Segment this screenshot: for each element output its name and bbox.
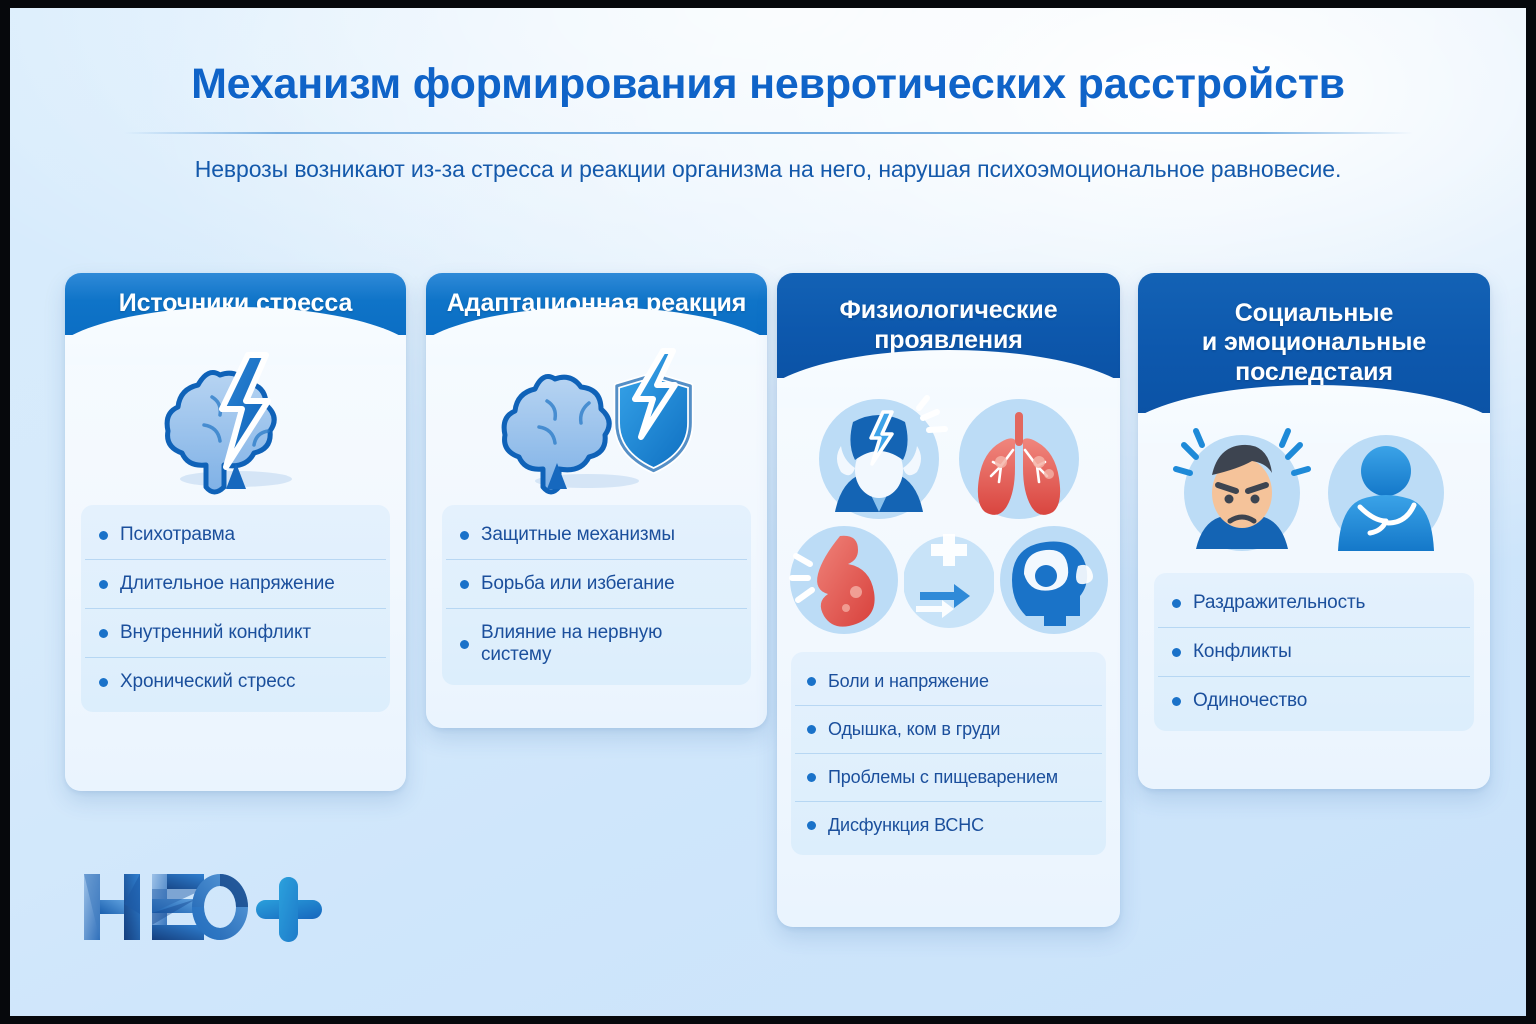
card-list: Психотравма Длительное напряжение Внутре… xyxy=(81,505,390,712)
bullet-icon xyxy=(99,678,108,687)
card-header: Социальные и эмоциональные последстаия xyxy=(1138,273,1490,413)
card-adaptive-reaction[interactable]: Адаптационная реакция xyxy=(426,273,767,728)
bullet-icon xyxy=(460,580,469,589)
neo-plus-logo-mark xyxy=(80,868,330,946)
card-illustration xyxy=(777,378,1120,652)
list-item[interactable]: Влияние на нервную систему xyxy=(446,609,747,679)
list-item-label: Внутренний конфликт xyxy=(120,622,311,644)
list-item[interactable]: Конфликты xyxy=(1158,628,1470,677)
page-title: Механизм формирования невротических расс… xyxy=(10,60,1526,108)
list-item[interactable]: Длительное напряжение xyxy=(85,560,386,609)
brain-lightning-illustration xyxy=(136,345,336,495)
brain-shield-illustration xyxy=(477,345,717,495)
card-title-line1: Физиологические xyxy=(839,296,1057,324)
bullet-icon xyxy=(460,640,469,649)
bullet-icon xyxy=(99,531,108,540)
list-item[interactable]: Дисфункция ВСНС xyxy=(795,802,1102,849)
list-item-label: Боли и напряжение xyxy=(828,671,989,692)
logo-plus-icon xyxy=(256,877,322,942)
bullet-icon xyxy=(1172,648,1181,657)
list-item[interactable]: Проблемы с пищеварением xyxy=(795,754,1102,802)
list-item-label: Конфликты xyxy=(1193,641,1292,663)
card-social-emotional-consequences[interactable]: Социальные и эмоциональные последстаия xyxy=(1138,273,1490,789)
list-item-label: Раздражительность xyxy=(1193,592,1365,614)
list-item-label: Хронический стресс xyxy=(120,671,295,693)
card-header: Источники стресса xyxy=(65,273,406,335)
list-item-label: Влияние на нервную систему xyxy=(481,622,731,666)
bullet-icon xyxy=(1172,697,1181,706)
card-list: Раздражительность Конфликты Одиночество xyxy=(1154,573,1474,731)
card-illustration xyxy=(65,335,406,505)
list-item[interactable]: Раздражительность xyxy=(1158,579,1470,628)
icon-row-bottom xyxy=(784,520,1114,640)
card-list: Защитные механизмы Борьба или избегание … xyxy=(442,505,751,685)
card-header: Физиологические проявления xyxy=(777,273,1120,378)
bullet-icon xyxy=(807,725,816,734)
list-item-label: Психотравма xyxy=(120,524,235,546)
headache-person-icon xyxy=(809,394,949,524)
card-header: Адаптационная реакция xyxy=(426,273,767,335)
list-item[interactable]: Борьба или избегание xyxy=(446,560,747,609)
card-sources-of-stress[interactable]: Источники стресса xyxy=(65,273,406,791)
head-brain-icon xyxy=(994,520,1114,640)
infographic-canvas: Механизм формирования невротических расс… xyxy=(10,8,1526,1016)
logo-letter-n xyxy=(84,874,140,940)
list-item[interactable]: Внутренний конфликт xyxy=(85,609,386,658)
bullet-icon xyxy=(807,677,816,686)
icon-row-top xyxy=(809,394,1089,524)
bullet-icon xyxy=(460,531,469,540)
bullet-icon xyxy=(99,580,108,589)
bullet-icon xyxy=(99,629,108,638)
list-item-label: Одиночество xyxy=(1193,690,1307,712)
list-item-label: Борьба или избегание xyxy=(481,573,675,595)
angry-face-icon xyxy=(1172,423,1312,563)
list-item[interactable]: Хронический стресс xyxy=(85,658,386,706)
bullet-icon xyxy=(1172,599,1181,608)
header: Механизм формирования невротических расс… xyxy=(10,60,1526,183)
arrow-right-icon xyxy=(904,520,994,640)
list-item-label: Дисфункция ВСНС xyxy=(828,815,984,836)
card-illustration xyxy=(426,335,767,505)
logo-letter-o xyxy=(192,874,248,940)
list-item[interactable]: Психотравма xyxy=(85,511,386,560)
list-item[interactable]: Одышка, ком в груди xyxy=(795,706,1102,754)
list-item[interactable]: Боли и напряжение xyxy=(795,658,1102,706)
card-physiological-manifestations[interactable]: Физиологические проявления xyxy=(777,273,1120,927)
lungs-icon xyxy=(949,394,1089,524)
bullet-icon xyxy=(807,773,816,782)
list-item-label: Одышка, ком в груди xyxy=(828,719,1000,740)
list-item[interactable]: Одиночество xyxy=(1158,677,1470,725)
stomach-icon xyxy=(784,520,904,640)
lonely-person-icon xyxy=(1316,423,1456,563)
page-subtitle: Неврозы возникают из-за стресса и реакци… xyxy=(10,156,1526,183)
poster-root: Механизм формирования невротических расс… xyxy=(0,0,1536,1024)
card-title-line1: Социальные xyxy=(1235,299,1394,327)
card-title-line3: последстаия xyxy=(1235,358,1393,386)
bullet-icon xyxy=(807,821,816,830)
title-divider xyxy=(123,132,1413,134)
card-title-line2: и эмоциональные xyxy=(1202,328,1426,356)
list-item-label: Проблемы с пищеварением xyxy=(828,767,1058,788)
list-item[interactable]: Защитные механизмы xyxy=(446,511,747,560)
neo-plus-logo[interactable] xyxy=(80,868,330,951)
list-item-label: Защитные механизмы xyxy=(481,524,675,546)
card-illustration xyxy=(1138,413,1490,573)
list-item-label: Длительное напряжение xyxy=(120,573,335,595)
card-list: Боли и напряжение Одышка, ком в груди Пр… xyxy=(791,652,1106,855)
